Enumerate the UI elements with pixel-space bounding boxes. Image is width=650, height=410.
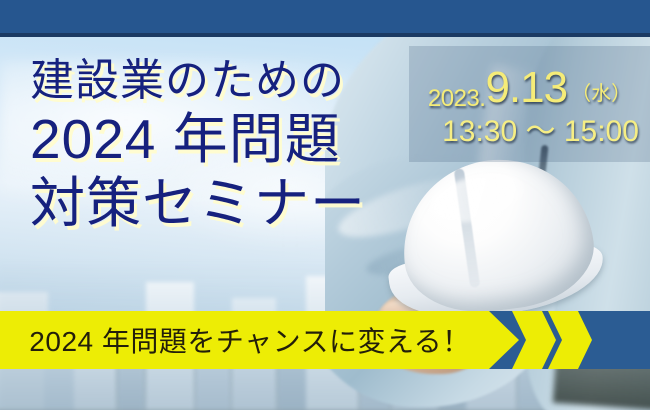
- event-weekday: （水）: [571, 83, 631, 105]
- ribbon-tagline: 2024 年問題をチャンスに変える！: [0, 311, 500, 369]
- event-date: 2023.9.13（水）: [409, 66, 650, 111]
- headline-line-3: 対策セミナー: [30, 175, 430, 232]
- seminar-promo-banner: 2023.9.13（水） 13:30 〜 15:00 建設業のための 2024 …: [0, 0, 650, 410]
- event-day: 9.13: [485, 63, 567, 112]
- event-year: 2023.: [428, 85, 486, 112]
- event-time: 13:30 〜 15:00: [409, 117, 650, 147]
- headline-line-1: 建設業のための: [30, 58, 430, 104]
- page-title: 建設業のための 2024 年問題 対策セミナー: [30, 58, 430, 232]
- top-navy-bar: [0, 0, 650, 33]
- headline-line-2: 2024 年問題: [30, 111, 430, 168]
- top-navy-rule: [0, 33, 650, 37]
